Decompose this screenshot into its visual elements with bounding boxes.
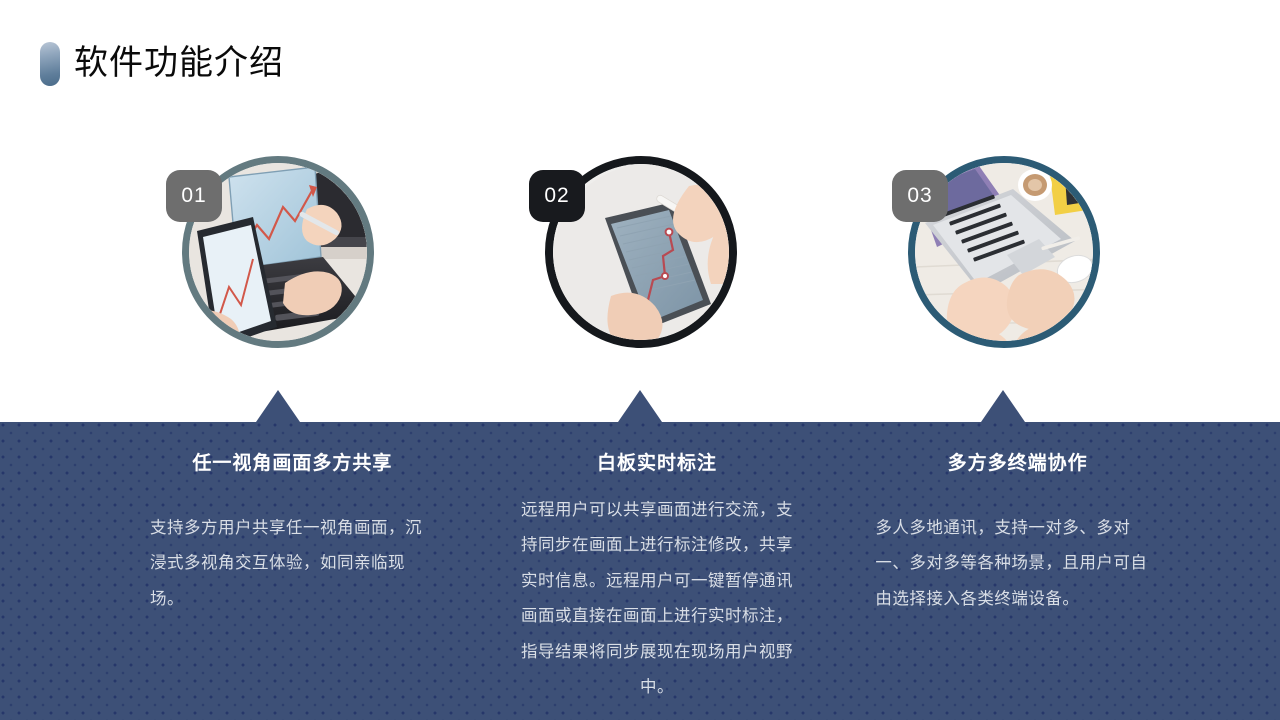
feature-text-columns: 任一视角画面多方共享 支持多方用户共享任一视角画面，沉浸式多视角交互体验，如同亲…: [0, 422, 1280, 720]
feature-circle-3[interactable]: 03: [908, 156, 1100, 348]
feature-body-1: 支持多方用户共享任一视角画面，沉浸式多视角交互体验，如同亲临现场。: [150, 511, 435, 617]
feature-images-row: 01: [0, 0, 1280, 420]
feature-column-2: 白板实时标注 远程用户可以共享画面进行交流，支持同步在画面上进行标注修改，共享实…: [497, 422, 818, 720]
feature-circle-2[interactable]: 02: [545, 156, 737, 348]
feature-badge-2: 02: [529, 170, 585, 222]
panel-notch-1-icon: [256, 390, 300, 422]
feature-heading-3: 多方多终端协作: [875, 448, 1160, 475]
panel-notch-2-icon: [618, 390, 662, 422]
feature-heading-1: 任一视角画面多方共享: [150, 448, 435, 475]
feature-badge-3: 03: [892, 170, 948, 222]
feature-heading-2: 白板实时标注: [515, 448, 800, 475]
features-panel: 任一视角画面多方共享 支持多方用户共享任一视角画面，沉浸式多视角交互体验，如同亲…: [0, 422, 1280, 720]
panel-notch-3-icon: [981, 390, 1025, 422]
feature-column-3: 多方多终端协作 多人多地通讯，支持一对多、多对一、多对多等各种场景，且用户可自由…: [817, 422, 1280, 720]
feature-circle-1[interactable]: 01: [182, 156, 374, 348]
feature-body-3: 多人多地通讯，支持一对多、多对一、多对多等各种场景，且用户可自由选择接入各类终端…: [875, 511, 1160, 617]
feature-body-2: 远程用户可以共享画面进行交流，支持同步在画面上进行标注修改，共享实时信息。远程用…: [515, 493, 800, 706]
feature-column-1: 任一视角画面多方共享 支持多方用户共享任一视角画面，沉浸式多视角交互体验，如同亲…: [0, 422, 497, 720]
feature-badge-1: 01: [166, 170, 222, 222]
